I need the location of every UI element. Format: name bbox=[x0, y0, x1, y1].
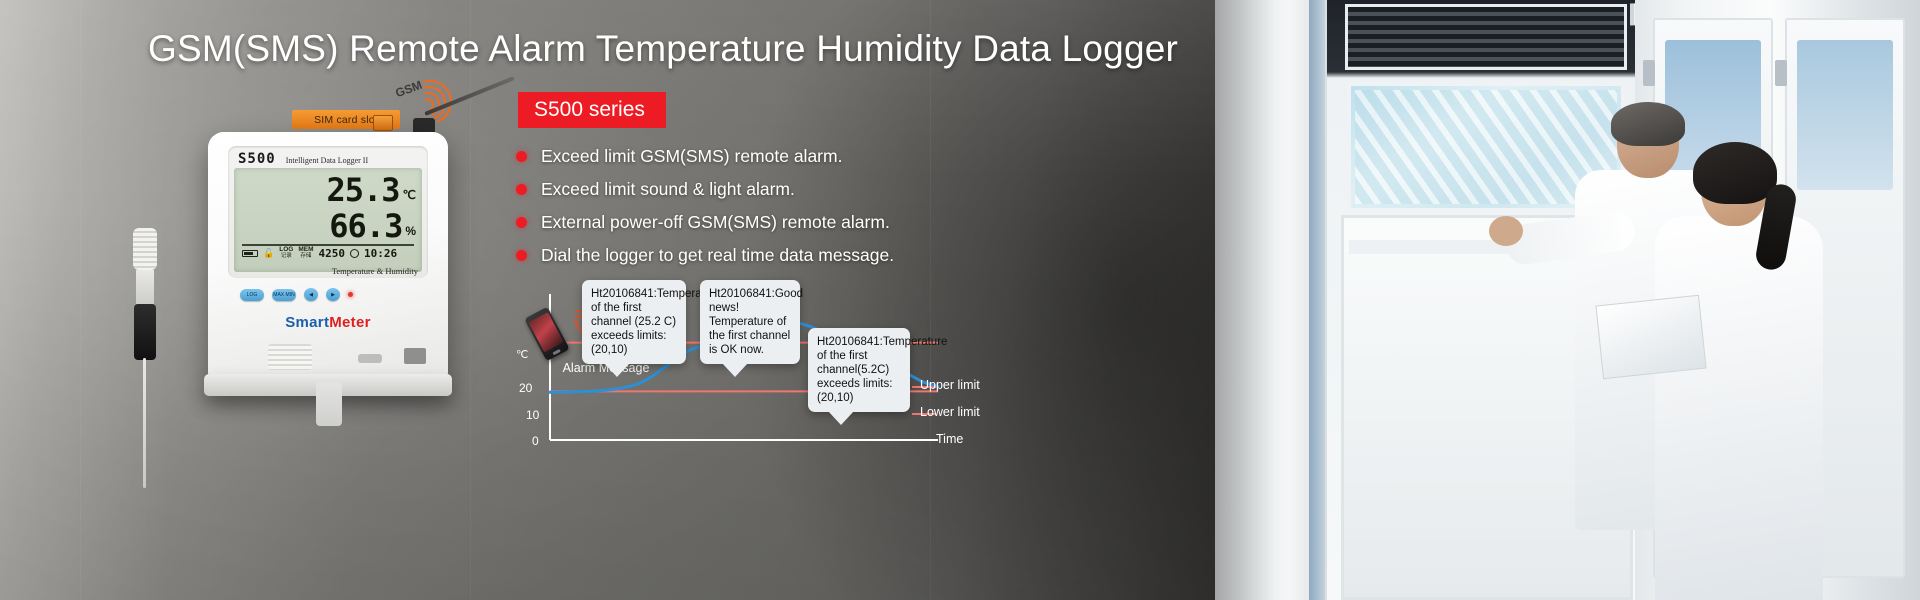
y-tick-10: 10 bbox=[526, 408, 539, 422]
humidity-value: 66.3 bbox=[329, 210, 402, 242]
lcd-screen: 25.3 ℃ 66.3 % 🔓 LOG 记录 bbox=[234, 168, 422, 272]
lcd-caption: Temperature & Humidity bbox=[228, 266, 428, 276]
y-tick-0: 0 bbox=[532, 434, 539, 448]
product-banner: GSM(SMS) Remote Alarm Temperature Humidi… bbox=[0, 0, 1920, 600]
feature-text: Exceed limit sound & light alarm. bbox=[541, 179, 795, 200]
sim-slot-icon bbox=[373, 115, 393, 131]
brand-meter: Meter bbox=[329, 314, 371, 331]
log-indicator: LOG 记录 bbox=[279, 247, 293, 260]
battery-icon bbox=[242, 250, 258, 257]
sim-card-slot-label: SIM card slot bbox=[314, 114, 378, 126]
device-subtitle: Intelligent Data Logger II bbox=[286, 156, 368, 165]
brand-smart: Smart bbox=[285, 314, 329, 331]
log-button[interactable]: LOG bbox=[240, 289, 264, 301]
temperature-unit: ℃ bbox=[403, 188, 416, 206]
feature-list: Exceed limit GSM(SMS) remote alarm. Exce… bbox=[516, 140, 986, 272]
device-vent-icon bbox=[268, 344, 312, 370]
lock-icon: 🔓 bbox=[263, 248, 274, 259]
scientist-female bbox=[1645, 150, 1845, 600]
alarm-led-icon bbox=[348, 292, 353, 297]
left-button[interactable]: ◀ bbox=[304, 288, 318, 301]
temperature-value: 25.3 bbox=[326, 174, 399, 206]
device-buttons: LOG MAX MIN ◀ ▶ bbox=[240, 288, 353, 301]
mem-label-cn: 存储 bbox=[300, 254, 311, 260]
feature-text: Exceed limit GSM(SMS) remote alarm. bbox=[541, 146, 842, 167]
lcd-bezel: S500 Intelligent Data Logger II 25.3 ℃ 6… bbox=[228, 146, 428, 278]
humidity-probe bbox=[130, 228, 160, 488]
feature-text: External power-off GSM(SMS) remote alarm… bbox=[541, 212, 890, 233]
clock-value: 10:26 bbox=[364, 247, 397, 260]
humidity-unit: % bbox=[405, 224, 416, 242]
data-logger-body: S500 Intelligent Data Logger II 25.3 ℃ 6… bbox=[208, 132, 448, 382]
humidity-reading: 66.3 % bbox=[240, 206, 416, 242]
product-device: GSM SIM card slot S500 Intelligent Data … bbox=[120, 60, 520, 490]
record-count: 4250 bbox=[318, 247, 345, 260]
alarm-timeline-chart: ℃ 20 10 0 GSM Alarm Message Ht20106841:T… bbox=[508, 282, 1028, 462]
series-badge: S500 series bbox=[518, 92, 666, 128]
laboratory-photo bbox=[1215, 0, 1920, 600]
vent-grille-icon bbox=[1345, 4, 1627, 70]
clock-icon bbox=[350, 249, 359, 258]
device-model-label: S500 bbox=[238, 151, 276, 167]
series-badge-label: S500 series bbox=[534, 98, 645, 122]
brand-logo: SmartMeter bbox=[208, 314, 448, 332]
alarm-bubble-2: Ht20106841:Good news! Temperature of the… bbox=[700, 280, 800, 364]
temperature-reading: 25.3 ℃ bbox=[240, 170, 416, 206]
x-axis-label: Time bbox=[936, 432, 963, 446]
device-cable bbox=[316, 382, 342, 426]
maxmin-button[interactable]: MAX MIN bbox=[272, 289, 296, 301]
feature-text: Dial the logger to get real time data me… bbox=[541, 245, 894, 266]
list-item: Exceed limit sound & light alarm. bbox=[516, 173, 986, 206]
y-tick-20: 20 bbox=[519, 381, 532, 395]
list-item: Exceed limit GSM(SMS) remote alarm. bbox=[516, 140, 986, 173]
alarm-bubble-3: Ht20106841:Temperature of the first chan… bbox=[808, 328, 910, 412]
list-item: External power-off GSM(SMS) remote alarm… bbox=[516, 206, 986, 239]
y-axis-unit-label: ℃ bbox=[516, 348, 528, 361]
photo-gradient-blend bbox=[1215, 0, 1275, 600]
right-button[interactable]: ▶ bbox=[326, 288, 340, 301]
lower-limit-label: Lower limit bbox=[920, 405, 980, 419]
alarm-bubble-1: Ht20106841:Temperature of the first chan… bbox=[582, 280, 686, 364]
sensor-jack bbox=[404, 348, 426, 364]
mem-indicator: MEM 存储 bbox=[298, 247, 313, 260]
list-item: Dial the logger to get real time data me… bbox=[516, 239, 986, 272]
log-label-cn: 记录 bbox=[281, 254, 292, 260]
upper-limit-label: Upper limit bbox=[920, 378, 980, 392]
usb-port bbox=[358, 354, 382, 363]
